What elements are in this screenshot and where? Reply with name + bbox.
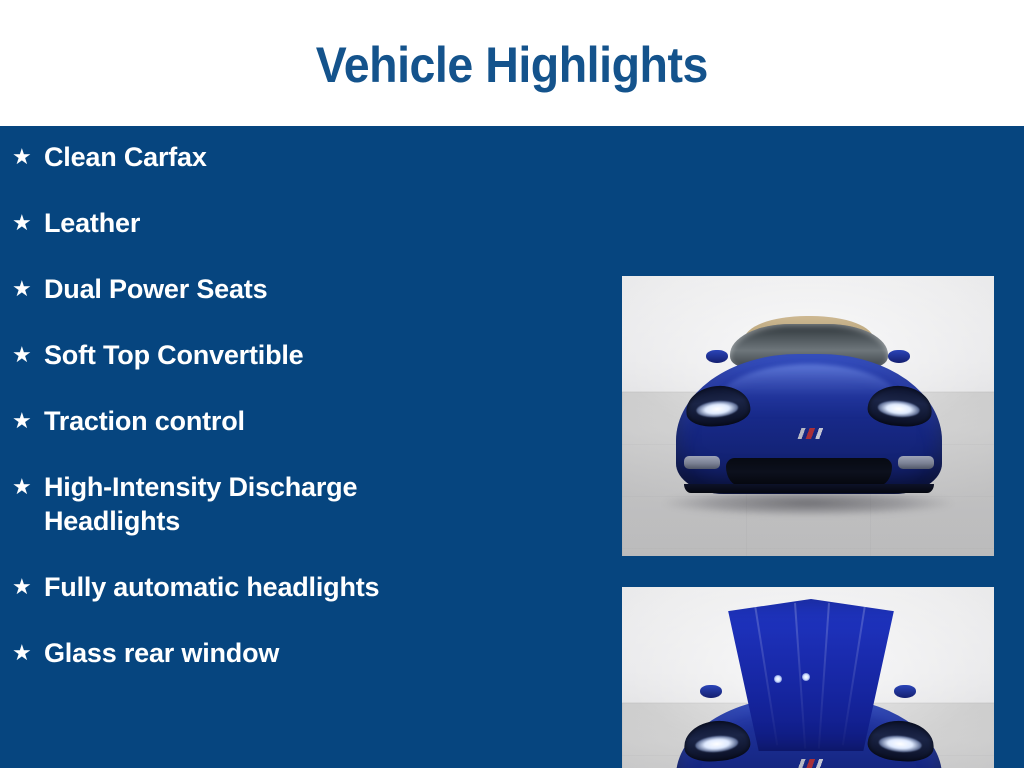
page-title: Vehicle Highlights — [316, 40, 708, 90]
star-icon: ★ — [12, 338, 36, 372]
list-item: ★ Dual Power Seats — [12, 272, 612, 306]
slide-header: Vehicle Highlights — [0, 0, 1024, 126]
star-icon: ★ — [12, 404, 36, 438]
list-item: ★ Leather — [12, 206, 612, 240]
star-icon: ★ — [12, 140, 36, 174]
highlight-label: Clean Carfax — [36, 140, 612, 174]
vehicle-photo-front — [622, 276, 994, 556]
list-item: ★ Glass rear window — [12, 636, 612, 670]
highlights-list: ★ Clean Carfax ★ Leather ★ Dual Power Se… — [12, 140, 612, 670]
list-item: ★ Soft Top Convertible — [12, 338, 612, 372]
list-item: ★ High-Intensity Discharge Headlights — [12, 470, 452, 538]
star-icon: ★ — [12, 636, 36, 670]
list-item: ★ Clean Carfax — [12, 140, 612, 174]
star-icon: ★ — [12, 272, 36, 306]
highlight-label: Soft Top Convertible — [36, 338, 612, 372]
highlight-label: Fully automatic headlights — [36, 570, 612, 604]
highlight-label: Glass rear window — [36, 636, 612, 670]
slide-body: ★ Clean Carfax ★ Leather ★ Dual Power Se… — [0, 126, 1024, 768]
highlight-label: High-Intensity Discharge Headlights — [36, 470, 452, 538]
star-icon: ★ — [12, 570, 36, 604]
highlight-label: Leather — [36, 206, 612, 240]
list-item: ★ Fully automatic headlights — [12, 570, 612, 604]
slide-root: Vehicle Highlights ★ Clean Carfax ★ Leat… — [0, 0, 1024, 768]
highlight-label: Traction control — [36, 404, 612, 438]
list-item: ★ Traction control — [12, 404, 612, 438]
star-icon: ★ — [12, 470, 36, 504]
star-icon: ★ — [12, 206, 36, 240]
vehicle-photo-hood-open — [622, 587, 994, 768]
highlight-label: Dual Power Seats — [36, 272, 612, 306]
